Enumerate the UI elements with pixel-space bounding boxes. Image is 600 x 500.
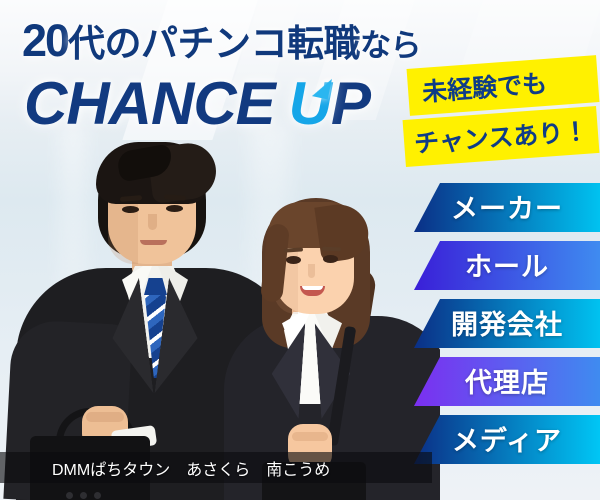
briefcase-stud — [94, 492, 101, 499]
man-mouth — [140, 240, 167, 245]
category-item-hall[interactable]: ホール — [414, 241, 600, 290]
logo-p: P — [331, 70, 370, 137]
people-photo — [0, 140, 440, 500]
briefcase-stud — [80, 492, 87, 499]
man-fingers — [86, 412, 124, 422]
page-title: 20代のパチンコ転職なら — [22, 18, 421, 63]
category-label: メディア — [452, 419, 562, 458]
category-label: ホール — [465, 245, 549, 284]
headline-main: 代のパチンコ転職 — [68, 23, 360, 64]
man-eye-left — [122, 206, 139, 213]
status-badge: 未経験でも チャンスあり！ — [404, 62, 598, 160]
credit-text: DMMぱちタウン あさくら 南こうめ — [52, 456, 330, 480]
category-item-media[interactable]: メディア — [414, 415, 600, 464]
logo-chance: CHANCE — [24, 70, 275, 137]
category-label: 開発会社 — [451, 303, 563, 342]
category-label: 代理店 — [465, 361, 549, 400]
headline-number: 20 — [22, 15, 68, 66]
briefcase-stud — [66, 492, 73, 499]
banner-root: 20代のパチンコ転職なら CHANCEUP 未経験でも チャンスあり！ メーカー… — [0, 0, 600, 500]
credit-bar: DMMぱちタウン あさくら 南こうめ — [0, 452, 432, 483]
man-nose — [148, 214, 157, 230]
woman-teeth — [302, 286, 323, 290]
category-item-developer[interactable]: 開発会社 — [414, 299, 600, 348]
category-item-agency[interactable]: 代理店 — [414, 357, 600, 406]
category-item-maker[interactable]: メーカー — [414, 183, 600, 232]
badge-line-2: チャンスあり！ — [403, 106, 600, 167]
woman-eye-left — [286, 256, 301, 264]
headline-tail: なら — [360, 28, 421, 63]
woman-nose — [308, 264, 315, 278]
category-list: メーカー ホール 開発会社 代理店 メディア — [414, 183, 600, 473]
category-label: メーカー — [451, 187, 563, 226]
man-eye-right — [166, 205, 183, 212]
woman-eye-right — [323, 255, 338, 263]
woman-fingers — [292, 432, 328, 441]
